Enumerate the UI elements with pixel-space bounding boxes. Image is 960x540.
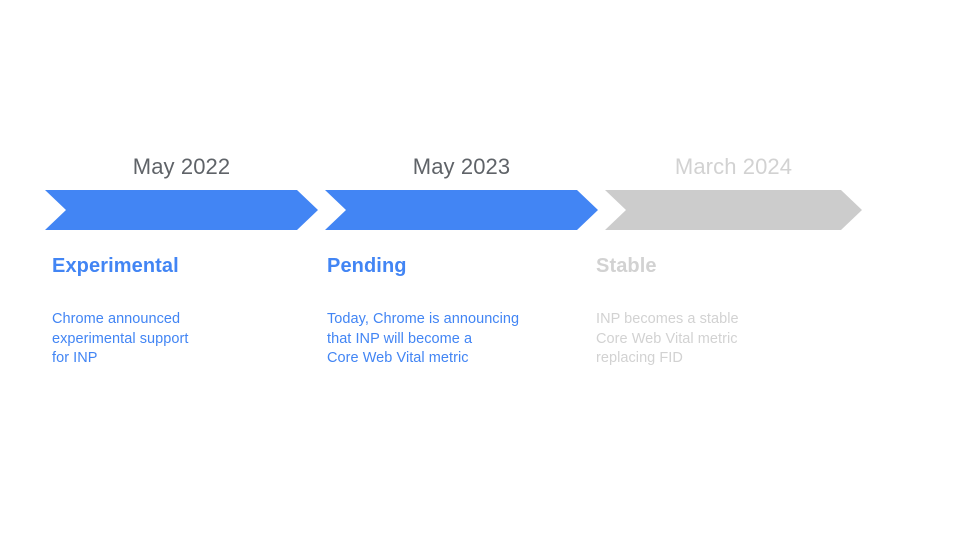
- inp-timeline: May 2022 Experimental Chrome announced e…: [0, 0, 960, 540]
- stage-chevron-bar: [605, 190, 862, 230]
- stage-title: Experimental: [52, 253, 179, 279]
- stage-chevron-bar: [325, 190, 598, 230]
- stage-date-label: May 2023: [325, 152, 598, 182]
- chevron-arrow-icon: [605, 190, 862, 230]
- stage-description: Today, Chrome is announcing that INP wil…: [327, 310, 587, 369]
- stage-description: Chrome announced experimental support fo…: [52, 310, 302, 369]
- stage-chevron-bar: [45, 190, 318, 230]
- stage-title: Stable: [596, 253, 657, 279]
- stage-date-label: May 2022: [45, 152, 318, 182]
- stage-date-label: March 2024: [605, 152, 862, 182]
- chevron-arrow-icon: [325, 190, 598, 230]
- stage-description: INP becomes a stable Core Web Vital metr…: [596, 310, 846, 369]
- stage-title: Pending: [327, 253, 407, 279]
- chevron-arrow-icon: [45, 190, 318, 230]
